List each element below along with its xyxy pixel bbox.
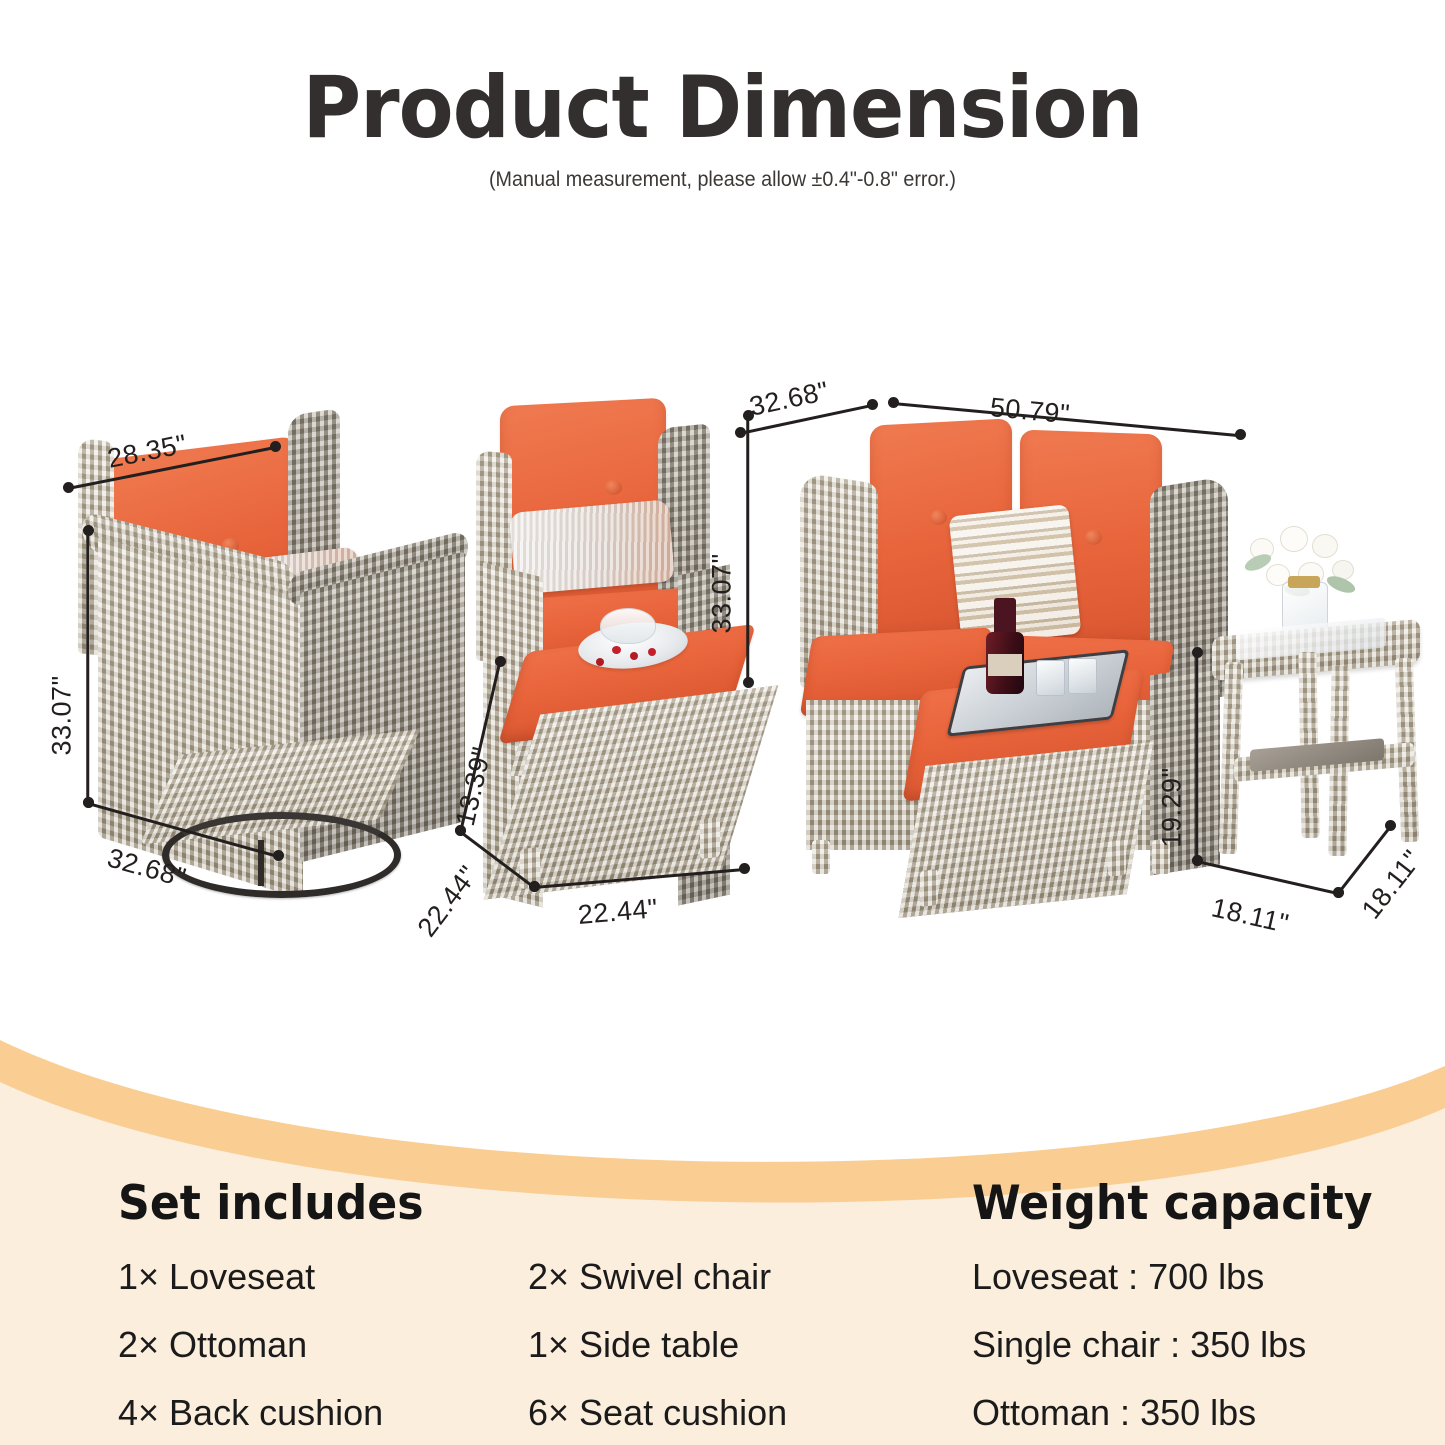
list-item: Loveseat : 700 lbs [972,1256,1264,1298]
dimension-label: 33.07" [47,675,78,755]
list-item: 1× Loveseat [118,1256,315,1298]
list-item: 1× Side table [528,1324,739,1366]
dimension-label: 19.29" [1157,767,1188,847]
header: Product Dimension (Manual measurement, p… [0,0,1445,230]
set-includes-heading: Set includes [118,1176,424,1231]
list-item: Ottoman : 350 lbs [972,1392,1256,1434]
product-dimension-infographic: Product Dimension (Manual measurement, p… [0,0,1445,1445]
wave-divider [0,1004,1445,1204]
summary-panel: Set includes 1× Loveseat 2× Ottoman 4× B… [0,1004,1445,1445]
list-item: 6× Seat cushion [528,1392,787,1434]
list-item: 2× Swivel chair [528,1256,771,1298]
dimension-label: 22.44" [577,893,660,931]
page-title: Product Dimension [51,58,1395,158]
weight-capacity-heading: Weight capacity [972,1176,1373,1231]
list-item: 4× Back cushion [118,1392,383,1434]
furniture-diagram: 28.35" 33.07" 32.68" [0,370,1445,950]
dimension-label: 22.44" [412,860,485,943]
dimension-label: 18.11" [1209,892,1292,940]
measurement-note: (Manual measurement, please allow ±0.4"-… [43,168,1401,192]
list-item: Single chair : 350 lbs [972,1324,1306,1366]
dimension-label: 33.07" [707,553,738,633]
list-item: 2× Ottoman [118,1324,307,1366]
